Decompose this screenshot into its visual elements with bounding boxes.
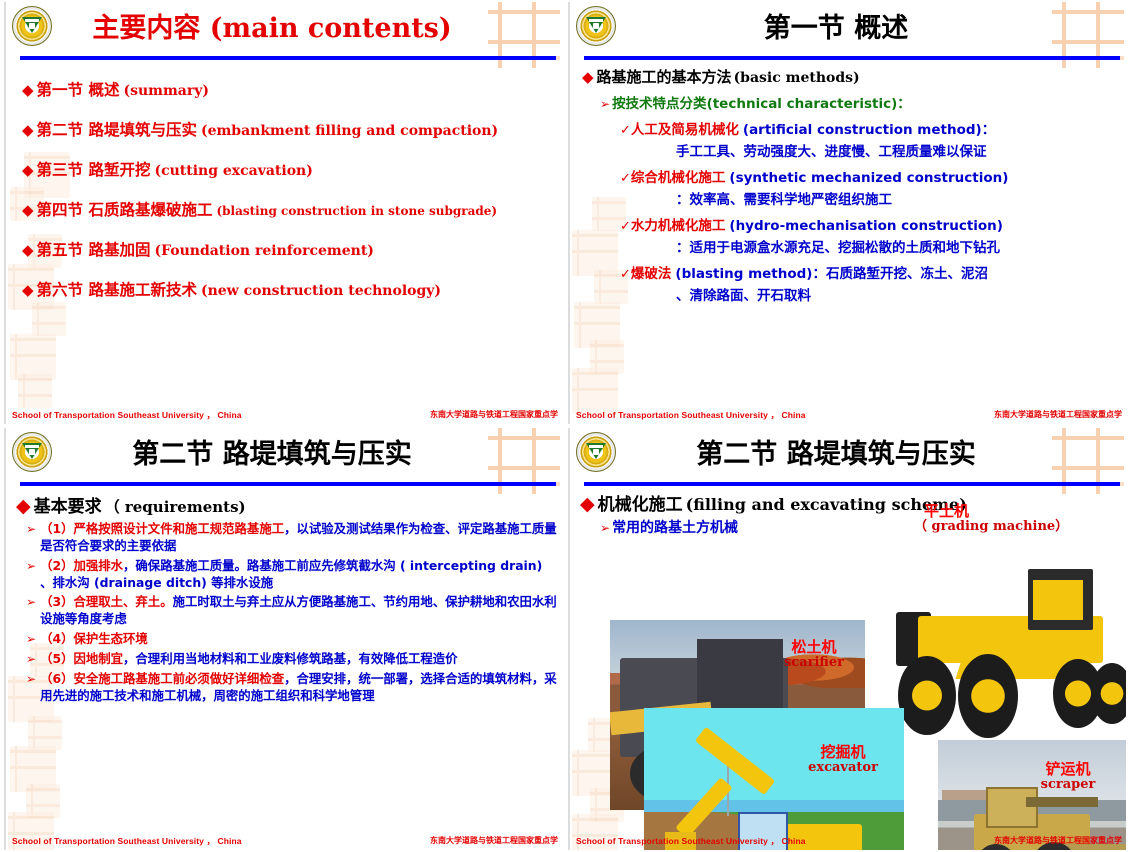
requirement-item[interactable]: ➢ （3）合理取土、弃土。施工时取土与弃土应从方便路基施工、节约用地、保护耕地和…	[26, 594, 558, 628]
footer-school-name: School of Transportation Southeast Unive…	[576, 409, 806, 421]
slide-footer: School of Transportation Southeast Unive…	[576, 833, 1122, 848]
requirement-red: （1）严格按照设计文件和施工规范路基施工	[40, 521, 284, 536]
diamond-bullet-icon: ◆	[22, 204, 34, 219]
toc-item-cn: 第四节 石质路基爆破施工	[37, 198, 213, 220]
slide-title: 第二节 路堤填筑与压实	[616, 432, 1056, 478]
arrow-bullet-icon: ➢	[26, 558, 36, 592]
requirement-red: （6）安全施工路基施工前必须做好详细检查	[40, 671, 284, 686]
slide-title: 主要内容 (main contents)	[52, 6, 492, 52]
heading-en: （ requirements)	[105, 496, 246, 517]
requirement-item[interactable]: ➢ （2）加强排水，确保路基施工质量。路基施工前应先修筑截水沟 ( interc…	[26, 558, 558, 592]
toc-item-en: (embankment filling and compaction)	[201, 123, 498, 139]
slide-footer: School of Transportation Southeast Unive…	[576, 407, 1122, 422]
requirement-red: （3）合理取土、弃土。	[40, 594, 173, 609]
slide-main-contents[interactable]: 主要内容 (main contents) ◆ 第一节 概述 (summary) …	[0, 0, 564, 426]
method-item[interactable]: ✓水力机械化施工 (hydro-mechanisation constructi…	[620, 214, 1122, 256]
toc-item-cn: 第一节 概述	[37, 78, 120, 100]
method-cn: 综合机械化施工	[631, 170, 726, 186]
slide-title: 第二节 路堤填筑与压实	[52, 432, 492, 478]
arrow-bullet-icon: ➢	[26, 651, 36, 668]
list-item[interactable]: ◆ 第三节 路堑开挖 (cutting excavation)	[22, 158, 558, 180]
level2-bullet[interactable]: ➢ 按技术特点分类 (technical characteristic)：	[600, 92, 1122, 112]
arrow-bullet-icon: ➢	[26, 521, 36, 555]
footer-lab-name-cn: 东南大学道路与铁道工程国家重点学	[430, 835, 558, 846]
requirement-item[interactable]: ➢ （1）严格按照设计文件和施工规范路基施工，以试验及测试结果作为检查、评定路基…	[26, 521, 558, 555]
toc-item-en: (cutting excavation)	[154, 163, 312, 179]
title-underline	[584, 56, 1120, 60]
footer-school-name: School of Transportation Southeast Unive…	[12, 835, 242, 847]
arrow-bullet-icon: ➢	[600, 97, 610, 111]
slide-body: ◆ 基本要求 （ requirements) ➢ （1）严格按照设计文件和施工规…	[14, 490, 558, 826]
method-detail: 、清除路面、开石取料	[676, 284, 1122, 304]
requirement-red: （5）因地制宜	[40, 651, 123, 666]
slide-deck: 主要内容 (main contents) ◆ 第一节 概述 (summary) …	[0, 0, 1128, 852]
list-item[interactable]: ◆ 第二节 路堤填筑与压实 (embankment filling and co…	[22, 118, 558, 140]
slide-body: ◆ 路基施工的基本方法 (basic methods) ➢ 按技术特点分类 (t…	[578, 64, 1122, 400]
requirement-red: （4）保护生态环境	[40, 631, 148, 646]
diamond-bullet-icon: ◆	[580, 495, 595, 514]
slide-title: 第一节 概述	[616, 6, 1056, 52]
arrow-bullet-icon: ➢	[26, 671, 36, 705]
toc-item-cn: 第五节 路基加固	[37, 238, 151, 260]
level2-en: (technical characteristic)：	[707, 92, 911, 112]
toc-item-en: (summary)	[123, 83, 209, 99]
list-item[interactable]: ◆ 第六节 路基施工新技术 (new construction technolo…	[22, 278, 558, 300]
level2-cn: 按技术特点分类	[612, 92, 707, 112]
slide-footer: School of Transportation Southeast Unive…	[12, 407, 558, 422]
method-detail: ：效率高、需要科学地严密组织施工	[676, 188, 1122, 208]
check-bullet-icon: ✓	[620, 123, 631, 138]
toc-item-cn: 第六节 路基施工新技术	[37, 278, 197, 300]
slide-section-2-requirements[interactable]: 第二节 路堤填筑与压实 ◆ 基本要求 （ requirements) ➢ （1）…	[0, 426, 564, 852]
method-en: (synthetic mechanized construction)	[729, 170, 1008, 186]
slide-title-text: 第二节 路堤填筑与压实	[696, 441, 975, 469]
list-item[interactable]: ◆ 第四节 石质路基爆破施工 (blasting construction in…	[22, 198, 558, 220]
toc-item-cn: 第三节 路堑开挖	[37, 158, 151, 180]
photo-grading-machine	[883, 562, 1126, 742]
toc-item-en: (Foundation reinforcement)	[154, 243, 373, 259]
heading-cn: 基本要求	[34, 492, 102, 517]
diamond-bullet-icon: ◆	[22, 244, 34, 259]
arrow-bullet-icon: ➢	[26, 594, 36, 628]
diamond-bullet-icon: ◆	[22, 124, 34, 139]
toc-item-en: (blasting construction in stone subgrade…	[216, 204, 497, 218]
footer-lab-name-cn: 东南大学道路与铁道工程国家重点学	[994, 409, 1122, 420]
method-detail: ：适用于电源盒水源充足、挖掘松散的土质和地下钻孔	[676, 236, 1122, 256]
heading-en: (filling and excavating scheme)	[686, 495, 967, 514]
footer-lab-name-cn: 东南大学道路与铁道工程国家重点学	[430, 409, 558, 420]
slide-title-text: 主要内容 (main contents)	[92, 15, 451, 43]
requirement-red: （2）加强排水	[40, 558, 123, 573]
requirement-item[interactable]: ➢ （5）因地制宜，合理利用当地材料和工业废料修筑路基，有效降低工程造价	[26, 651, 558, 668]
title-underline	[20, 56, 556, 60]
check-bullet-icon: ✓	[620, 171, 631, 186]
footer-school-name: School of Transportation Southeast Unive…	[12, 409, 242, 421]
section-heading: ◆ 基本要求 （ requirements)	[16, 492, 558, 517]
title-underline	[584, 482, 1120, 486]
university-logo-icon	[12, 6, 52, 46]
arrow-bullet-icon: ➢	[26, 631, 36, 648]
diamond-bullet-icon: ◆	[22, 284, 34, 299]
diamond-bullet-icon: ◆	[22, 164, 34, 179]
sub-bullet[interactable]: ➢ 常用的路基土方机械	[600, 517, 1122, 537]
photo-excavator	[644, 708, 904, 850]
title-underline	[20, 482, 556, 486]
check-bullet-icon: ✓	[620, 219, 631, 234]
level1-en: (basic methods)	[734, 70, 860, 86]
diamond-bullet-icon: ◆	[22, 84, 34, 99]
slide-title-text: 第一节 概述	[764, 15, 908, 43]
method-item[interactable]: ✓综合机械化施工 (synthetic mechanized construct…	[620, 166, 1122, 208]
method-cn: 爆破法	[631, 266, 672, 282]
slide-footer: School of Transportation Southeast Unive…	[12, 833, 558, 848]
section-heading: ◆ 机械化施工 (filling and excavating scheme)	[580, 490, 1122, 515]
slide-section-1-summary[interactable]: 第一节 概述 ◆ 路基施工的基本方法 (basic methods) ➢ 按技术…	[564, 0, 1128, 426]
toc-item-en: (new construction technology)	[201, 283, 441, 299]
requirement-blue: ，合理利用当地材料和工业废料修筑路基，有效降低工程造价	[123, 651, 458, 666]
method-item[interactable]: ✓人工及简易机械化 (artificial construction metho…	[620, 118, 1122, 160]
level1-bullet[interactable]: ◆ 路基施工的基本方法 (basic methods)	[582, 66, 1122, 87]
university-logo-icon	[576, 6, 616, 46]
method-en: (hydro-mechanisation construction)	[729, 218, 1003, 234]
footer-lab-name-cn: 东南大学道路与铁道工程国家重点学	[994, 835, 1122, 846]
toc-item-cn: 第二节 路堤填筑与压实	[37, 118, 197, 140]
method-cn: 人工及简易机械化	[631, 122, 739, 138]
level1-cn: 路基施工的基本方法	[597, 66, 732, 87]
requirement-item[interactable]: ➢ （6）安全施工路基施工前必须做好详细检查，合理安排，统一部署，选择合适的填筑…	[26, 671, 558, 705]
heading-cn: 机械化施工	[598, 490, 683, 515]
requirement-item[interactable]: ➢ （4）保护生态环境	[26, 631, 558, 648]
method-item[interactable]: ✓爆破法 (blasting method)：石质路堑开挖、冻土、泥沼 、清除路…	[620, 262, 1122, 304]
slide-body: ◆ 机械化施工 (filling and excavating scheme) …	[578, 490, 1122, 826]
list-item[interactable]: ◆ 第五节 路基加固 (Foundation reinforcement)	[22, 238, 558, 260]
slide-section-2-machinery[interactable]: 第二节 路堤填筑与压实 ◆ 机械化施工 (filling and excavat…	[564, 426, 1128, 852]
university-logo-icon	[576, 432, 616, 472]
diamond-bullet-icon: ◆	[16, 497, 31, 516]
arrow-bullet-icon: ➢	[600, 521, 610, 535]
method-en: (blasting method)：石质路堑开挖、冻土、泥沼	[675, 266, 988, 282]
method-en: (artificial construction method)：	[743, 122, 995, 138]
table-of-contents: ◆ 第一节 概述 (summary) ◆ 第二节 路堤填筑与压实 (embank…	[14, 64, 558, 400]
list-item[interactable]: ◆ 第一节 概述 (summary)	[22, 78, 558, 100]
slide-title-text: 第二节 路堤填筑与压实	[132, 441, 411, 469]
method-cn: 水力机械化施工	[631, 218, 726, 234]
footer-school-name: School of Transportation Southeast Unive…	[576, 835, 806, 847]
method-detail: 手工工具、劳动强度大、进度慢、工程质量难以保证	[676, 140, 1122, 160]
sub-bullet-text: 常用的路基土方机械	[612, 517, 738, 537]
university-logo-icon	[12, 432, 52, 472]
check-bullet-icon: ✓	[620, 267, 631, 282]
diamond-bullet-icon: ◆	[582, 71, 594, 86]
